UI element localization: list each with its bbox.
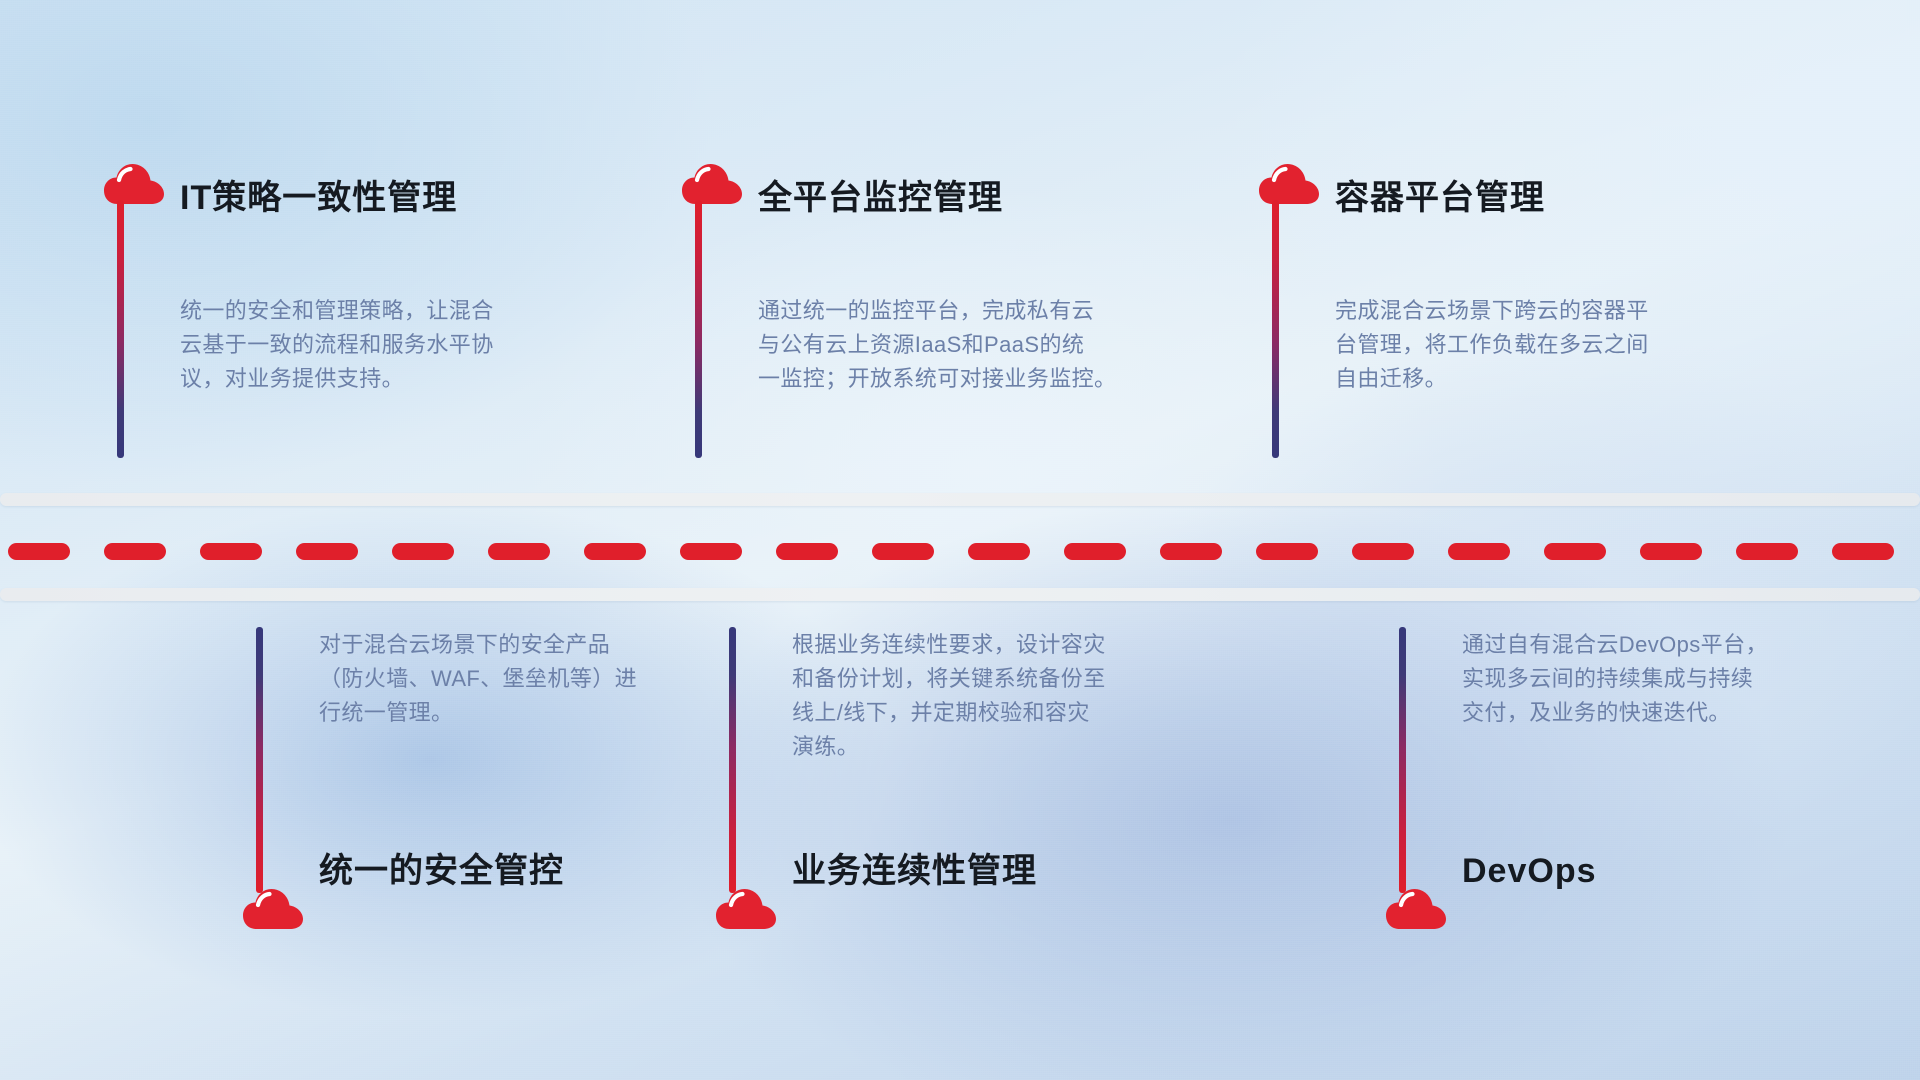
cloud-icon bbox=[1258, 160, 1320, 206]
road-dash bbox=[776, 543, 838, 560]
road-dash bbox=[1352, 543, 1414, 560]
item-title: IT策略一致性管理 bbox=[180, 181, 457, 215]
pin-stem-2 bbox=[695, 200, 702, 458]
road-dash bbox=[1448, 543, 1510, 560]
road-dash bbox=[200, 543, 262, 560]
road-dash bbox=[488, 543, 550, 560]
item-body: 通过自有混合云DevOps平台， 实现多云间的持续集成与持续 交付，及业务的快速… bbox=[1462, 628, 1842, 730]
item-title: DevOps bbox=[1462, 854, 1597, 888]
item-body: 完成混合云场景下跨云的容器平 台管理，将工作负载在多云之间 自由迁移。 bbox=[1335, 294, 1715, 396]
road-dash bbox=[392, 543, 454, 560]
road-dash bbox=[8, 543, 70, 560]
item-body: 根据业务连续性要求，设计容灾 和备份计划，将关键系统备份至 线上/线下，并定期校… bbox=[792, 628, 1172, 764]
road-dash bbox=[1736, 543, 1798, 560]
cloud-icon bbox=[715, 885, 777, 931]
pin-stem-1 bbox=[117, 200, 124, 458]
item-title: 业务连续性管理 bbox=[792, 854, 1037, 888]
item-body: 通过统一的监控平台，完成私有云 与公有云上资源IaaS和PaaS的统 一监控；开… bbox=[758, 294, 1138, 396]
road-dash bbox=[1064, 543, 1126, 560]
road-dash bbox=[1640, 543, 1702, 560]
item-body: 统一的安全和管理策略，让混合 云基于一致的流程和服务水平协 议，对业务提供支持。 bbox=[180, 294, 560, 396]
road-line-top bbox=[0, 493, 1920, 506]
cloud-icon bbox=[681, 160, 743, 206]
cloud-icon bbox=[1385, 885, 1447, 931]
road-dash bbox=[1256, 543, 1318, 560]
road-dash bbox=[1160, 543, 1222, 560]
road-dash bbox=[296, 543, 358, 560]
road-line-bottom bbox=[0, 588, 1920, 601]
item-title: 统一的安全管控 bbox=[319, 854, 564, 888]
pin-stem-5 bbox=[729, 627, 736, 893]
road-dashed-center-line bbox=[0, 543, 1920, 560]
cloud-icon bbox=[103, 160, 165, 206]
road-dash bbox=[680, 543, 742, 560]
pin-stem-3 bbox=[1272, 200, 1279, 458]
road-dash bbox=[872, 543, 934, 560]
item-title: 容器平台管理 bbox=[1335, 181, 1545, 215]
road-dash bbox=[1832, 543, 1894, 560]
pin-stem-4 bbox=[256, 627, 263, 893]
road-dash bbox=[1544, 543, 1606, 560]
road-dash bbox=[104, 543, 166, 560]
item-body: 对于混合云场景下的安全产品 （防火墙、WAF、堡垒机等）进 行统一管理。 bbox=[319, 628, 699, 730]
road-dash bbox=[968, 543, 1030, 560]
item-title: 全平台监控管理 bbox=[758, 181, 1003, 215]
pin-stem-6 bbox=[1399, 627, 1406, 893]
infographic-canvas: IT策略一致性管理 统一的安全和管理策略，让混合 云基于一致的流程和服务水平协 … bbox=[0, 0, 1920, 1080]
road-dash bbox=[584, 543, 646, 560]
cloud-icon bbox=[242, 885, 304, 931]
